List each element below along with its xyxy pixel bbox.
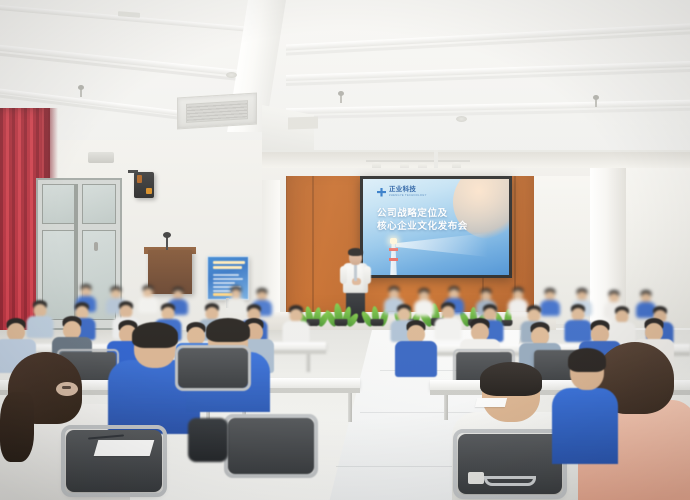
attendee-eye — [62, 386, 71, 389]
attendee-hair — [206, 318, 250, 342]
logo-text-en: ZHENGYE TECHNOLOGY — [389, 195, 427, 198]
presenter-arm-left — [340, 266, 347, 284]
lighthouse-beam — [396, 233, 488, 257]
slide-title-line-1: 公司战略定位及 — [377, 207, 505, 220]
chair[interactable] — [228, 418, 314, 480]
chair-handle — [484, 476, 536, 486]
attendee-hair — [132, 322, 178, 348]
smoke-detector-icon — [456, 116, 467, 122]
ceiling-hanger — [340, 94, 342, 103]
standing-banner — [207, 256, 249, 300]
presenter-hair — [348, 248, 363, 256]
slide-title-line-2: 核心企业文化发布会 — [377, 220, 505, 233]
lighthouse-band — [389, 248, 398, 251]
attendee-hair-ponytail — [0, 392, 34, 462]
door-handle[interactable] — [94, 242, 98, 251]
lighthouse-lamp-icon — [390, 238, 397, 244]
ceiling-hanger — [595, 98, 597, 107]
lighting-track — [366, 160, 470, 162]
wall-ac-vent — [88, 152, 114, 163]
smoke-detector-icon — [226, 72, 237, 78]
podium — [148, 250, 192, 294]
attendee-polo — [552, 388, 618, 464]
slide-title: 公司战略定位及 核心企业文化发布会 — [377, 207, 505, 233]
company-logo: 正业科技 ZHENGYE TECHNOLOGY — [377, 187, 427, 197]
attendee-hair — [480, 362, 542, 396]
logo-text-cn: 正业科技 — [389, 187, 427, 194]
projection-screen: 正业科技 ZHENGYE TECHNOLOGY 公司战略定位及 核心企业文化发布… — [360, 176, 512, 278]
wall-far-right — [626, 168, 690, 328]
ceiling-hanger — [80, 88, 82, 97]
paper-sheet[interactable] — [94, 440, 155, 456]
chair[interactable] — [178, 348, 248, 392]
presenter-arm-right — [364, 266, 371, 284]
microphone-icon — [163, 232, 171, 238]
speaker-tweeter-icon — [137, 175, 142, 183]
banner-title-line-1 — [213, 261, 245, 264]
chair-label — [468, 472, 484, 484]
paper-sheet[interactable] — [475, 398, 507, 407]
podium-mic-stem — [166, 236, 168, 250]
potted-plant — [328, 296, 354, 326]
bag — [188, 418, 228, 462]
ceiling-ac-grill — [186, 100, 248, 123]
conference-hall-photo: 正业科技 ZHENGYE TECHNOLOGY 公司战略定位及 核心企业文化发布… — [0, 0, 690, 500]
chair-front-center[interactable] — [458, 434, 562, 500]
presenter-collar — [354, 265, 357, 281]
presentation-slide: 正业科技 ZHENGYE TECHNOLOGY 公司战略定位及 核心企业文化发布… — [363, 179, 509, 275]
ceiling-access-panel — [288, 116, 318, 129]
attendee-face — [56, 382, 78, 396]
lighthouse-band — [389, 258, 398, 261]
banner-title-line-2 — [213, 266, 242, 269]
logo-cross-icon — [377, 188, 386, 197]
speaker-led-icon — [146, 188, 152, 194]
attendee-hair — [568, 348, 606, 372]
